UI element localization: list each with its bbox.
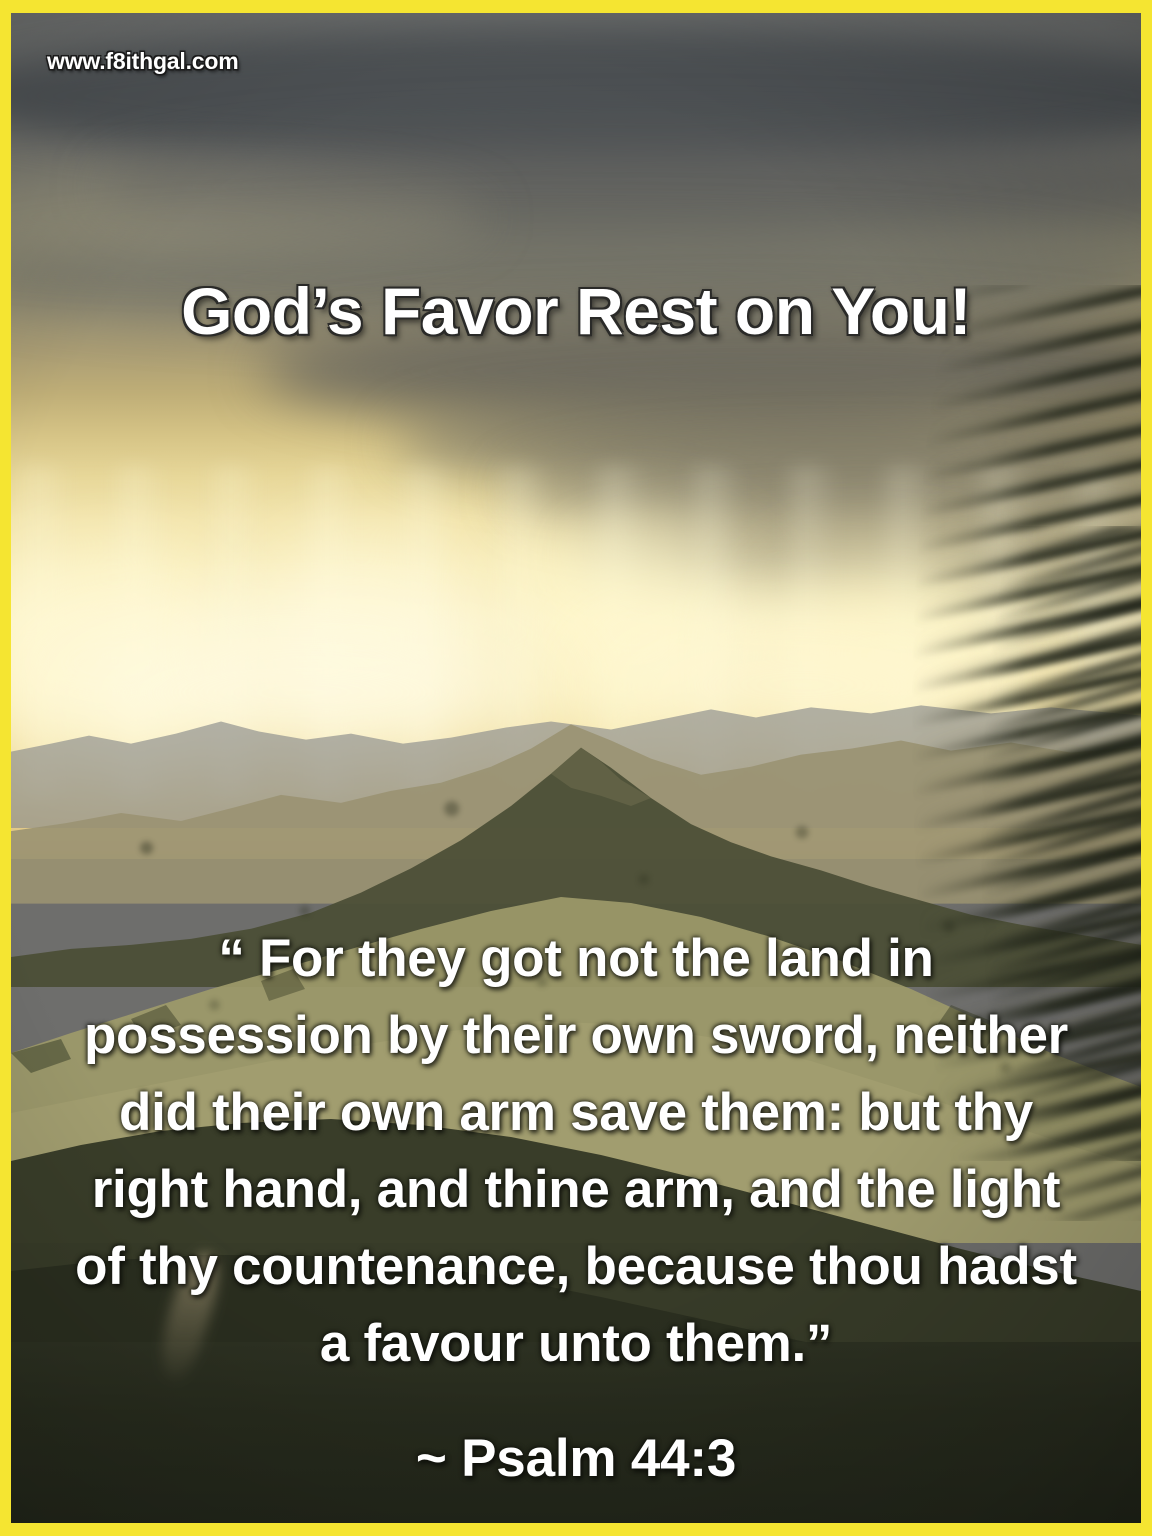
scripture-verse-text: “ For they got not the land in possessio… xyxy=(70,920,1082,1382)
scripture-poster: www.f8ithgal.com God’s Favor Rest on You… xyxy=(0,0,1152,1536)
website-watermark: www.f8ithgal.com xyxy=(47,48,238,75)
scripture-citation: ~ Psalm 44:3 xyxy=(0,1428,1152,1489)
page-title: God’s Favor Rest on You! xyxy=(0,277,1152,346)
